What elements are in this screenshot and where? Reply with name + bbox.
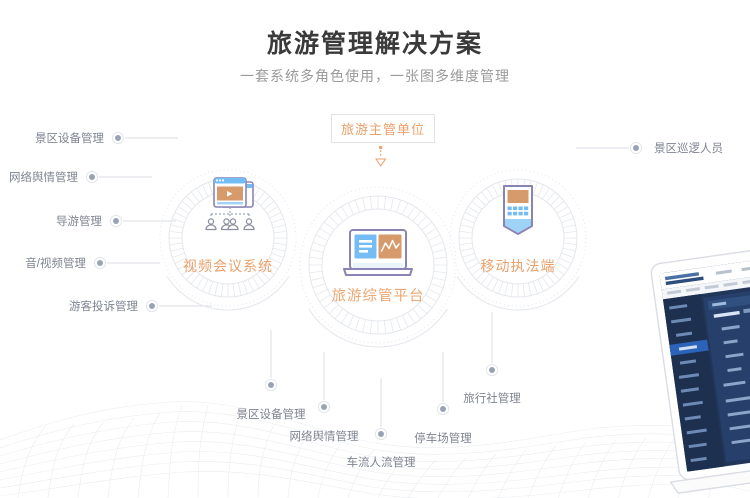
node-dot-bottom-2[interactable] (375, 428, 386, 439)
corner-mark-bl (328, 139, 335, 146)
authority-box[interactable]: 旅游主管单位 (331, 114, 435, 143)
mobile-device-icon (504, 186, 532, 234)
node-label-left-0: 景区设备管理 (35, 130, 104, 146)
architecture-diagram (0, 0, 750, 498)
node-dot-bottom-3[interactable] (437, 403, 448, 414)
node-label-bottom-2: 车流人流管理 (347, 454, 416, 470)
tourism-dashboard-preview[interactable] (650, 250, 750, 498)
corner-mark-tl (328, 111, 335, 118)
node-dot-bottom-4[interactable] (486, 364, 497, 375)
node-label-bottom-1: 网络舆情管理 (290, 428, 359, 444)
node-label-left-4: 游客投诉管理 (69, 298, 138, 314)
node-dot-left-4[interactable] (146, 300, 157, 311)
node-label-bottom-0: 景区设备管理 (237, 406, 306, 422)
laptop-dashboard-icon (344, 230, 412, 275)
node-dot-left-3[interactable] (94, 257, 105, 268)
node-dot-left-2[interactable] (110, 215, 121, 226)
video-window-icon (206, 178, 254, 230)
node-label-left-2: 导游管理 (56, 213, 102, 229)
hub-caption-tourism-platform: 旅游综管平台 (332, 285, 425, 306)
node-dot-left-0[interactable] (112, 132, 123, 143)
hub-caption-video-conference: 视频会议系统 (183, 256, 273, 276)
authority-label: 旅游主管单位 (341, 119, 425, 138)
corner-mark-br (431, 139, 438, 146)
node-label-right-0: 景区巡逻人员 (654, 140, 723, 156)
corner-mark-tr (431, 111, 438, 118)
node-dot-left-1[interactable] (86, 171, 97, 182)
solution-diagram-page: 旅游管理解决方案 一套系统多角色使用，一张图多维度管理 (0, 0, 750, 498)
node-dot-right-0[interactable] (630, 142, 641, 153)
node-dot-bottom-0[interactable] (265, 379, 276, 390)
node-label-left-3: 音/视频管理 (25, 255, 86, 271)
node-label-left-1: 网络舆情管理 (9, 169, 78, 185)
hub-caption-mobile-enforcement: 移动执法端 (481, 256, 556, 276)
node-label-bottom-4: 旅行社管理 (463, 390, 521, 406)
connector-lines (99, 138, 629, 427)
authority-arrow (376, 146, 386, 166)
node-label-bottom-3: 停车场管理 (414, 430, 472, 446)
node-dot-bottom-1[interactable] (318, 401, 329, 412)
